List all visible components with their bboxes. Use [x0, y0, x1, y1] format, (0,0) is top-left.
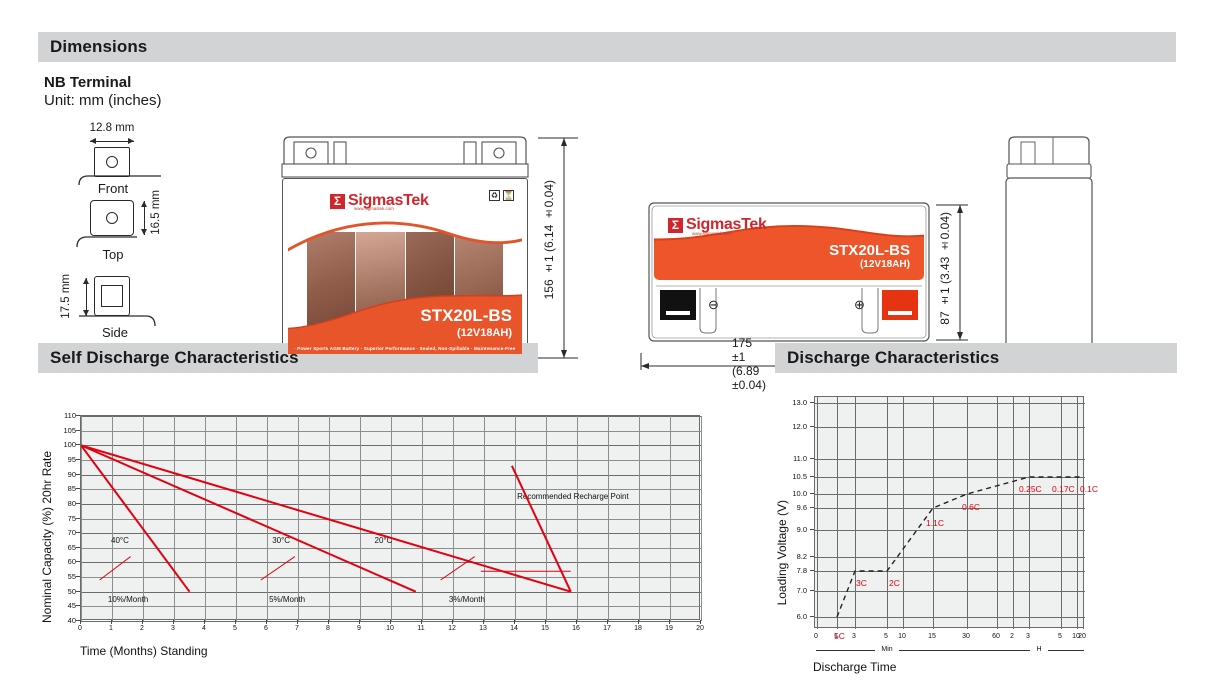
do-not-dispose-icon: ⏳ [503, 190, 514, 201]
self-discharge-plot-area [80, 415, 700, 620]
ytick-label: 100 [52, 440, 76, 449]
terminal-top-view: 16.5 mm Top [60, 194, 220, 272]
xtick-label: 1 [101, 625, 121, 632]
top-caption: Top [76, 247, 150, 262]
ytick-label: 10.5 [783, 472, 807, 481]
ytick-label: 80 [52, 499, 76, 508]
negative-polarity-icon: ⊖ [708, 297, 719, 313]
rate-label-5C: 5C [834, 631, 845, 641]
discharge-curve-20°C [81, 445, 571, 591]
ytick-label: 55 [52, 572, 76, 581]
annotation-leader [261, 557, 295, 580]
self-discharge-chart: Nominal Capacity (%) 20hr Rate 404550556… [38, 405, 718, 675]
ytick-label: 8.2 [783, 552, 807, 561]
positive-terminal [882, 290, 918, 320]
brand-url: www.sigmastek.com [692, 231, 732, 236]
xtick-label: 18 [628, 625, 648, 632]
battery-capacity-side: (12V18AH) [860, 259, 910, 270]
eco-icon-group: ♻ ⏳ [489, 190, 514, 201]
ytick-label: 7.8 [783, 566, 807, 575]
dimensions-header: Dimensions [38, 32, 1176, 62]
gridline-v [701, 416, 702, 621]
depth-dimension: 87 ±1 (3.43 ±0.04) [934, 202, 974, 344]
xtick-label: 15 [922, 633, 942, 640]
ytick-label: 60 [52, 557, 76, 566]
depth-dimension-label: 87 ±1 (3.43 ±0.04) [938, 212, 952, 325]
sigma-icon: Σ [330, 194, 345, 209]
recharge-point-leader [512, 466, 571, 592]
terminal-side-view: 17.5 mm Side [60, 272, 220, 348]
gridline-h [81, 621, 701, 622]
ytick-label: 9.0 [783, 525, 807, 534]
dimensions-body: NB Terminal Unit: mm (inches) 12.8 mm Fr… [38, 74, 1176, 339]
xtick-label: 20 [1072, 633, 1092, 640]
ytick-label: 12.0 [783, 422, 807, 431]
xtick-label: 0 [70, 625, 90, 632]
battery-rear-view [1003, 134, 1095, 362]
ytick-label: 13.0 [783, 398, 807, 407]
front-width-label: 12.8 mm [78, 122, 146, 134]
discharge-section: Discharge Characteristics [775, 343, 1177, 373]
annotation-leader [441, 557, 475, 580]
front-terminal-hole [106, 156, 118, 168]
top-height-arrow [140, 201, 149, 235]
battery-capacity-front: (12V18AH) [457, 327, 512, 339]
xtick-label: 3 [163, 625, 183, 632]
xtick-label: 17 [597, 625, 617, 632]
battery-side-label: Σ SigmasTek www.sigmastek.com STX20L-BS … [654, 208, 924, 280]
discharge-header: Discharge Characteristics [775, 343, 1177, 373]
xtick-label: 16 [566, 625, 586, 632]
top-base-curve [76, 234, 138, 248]
ytick-label: 105 [52, 426, 76, 435]
xtick-label: 3 [844, 633, 864, 640]
xtick-label: 9 [349, 625, 369, 632]
ytick-label: 95 [52, 455, 76, 464]
recycle-icon: ♻ [489, 190, 500, 201]
xtick-label: 3 [1018, 633, 1038, 640]
top-terminal-hole [106, 212, 118, 224]
positive-polarity-icon: ⊕ [854, 297, 865, 313]
ytick-label: 110 [52, 411, 76, 420]
xtick-label: 30 [956, 633, 976, 640]
ytick-label: 85 [52, 484, 76, 493]
ytick-label: 9.6 [783, 503, 807, 512]
battery-model-front: STX20L-BS [420, 306, 512, 326]
ytick-label: 75 [52, 514, 76, 523]
ytick-label: 45 [52, 601, 76, 610]
self-discharge-title: Self Discharge Characteristics [50, 348, 299, 368]
xtick-label: 19 [659, 625, 679, 632]
xtick-label: 10 [892, 633, 912, 640]
battery-tagline: · Power Sports AGM Battery · Superior Pe… [294, 346, 515, 351]
dimensions-title: Dimensions [50, 37, 147, 57]
battery-front-lid [276, 134, 534, 180]
battery-rear-outline [1003, 134, 1095, 362]
xtick-label: 4 [194, 625, 214, 632]
xtick-label: 11 [411, 625, 431, 632]
label-wave-top [288, 211, 522, 269]
self-discharge-curves [81, 416, 701, 621]
battery-model-side: STX20L-BS [829, 242, 910, 259]
xtick-label: 10 [380, 625, 400, 632]
ytick-label: 10.0 [783, 489, 807, 498]
ytick-label: 40 [52, 616, 76, 625]
ytick-label: 6.0 [783, 612, 807, 621]
side-terminal-inner [101, 285, 123, 307]
side-height-label: 17.5 mm [60, 274, 72, 319]
xtick-label: 20 [690, 625, 710, 632]
top-height-label: 16.5 mm [150, 190, 162, 235]
height-dimension-label: 156 ±1 (6.14 ±0.04) [542, 180, 556, 299]
xtick-label: 13 [473, 625, 493, 632]
ytick-label: 90 [52, 470, 76, 479]
front-width-arrow [90, 137, 134, 146]
xtick-label: 5 [225, 625, 245, 632]
xtick-label: 8 [318, 625, 338, 632]
xtick-label: 2 [132, 625, 152, 632]
xtick-label: 6 [256, 625, 276, 632]
battery-front-label: Σ SigmasTek www.sigmastek.com ♻ ⏳ STX20L… [288, 184, 522, 354]
ytick-label: 11.0 [783, 454, 807, 463]
discharge-xlabel: Discharge Time [813, 660, 896, 674]
annotation-leader [100, 557, 131, 580]
discharge-curves [815, 397, 1085, 629]
terminal-front-view: 12.8 mm Front [60, 122, 220, 194]
terminal-views: 12.8 mm Front 16.5 mm Top [60, 122, 220, 348]
cutoff-envelope [837, 477, 1083, 617]
negative-terminal [660, 290, 696, 320]
discharge-chart: Loading Voltage (V) 13.012.011.010.510.0… [775, 388, 1195, 688]
sigma-icon: Σ [668, 218, 683, 233]
xtick-label: 15 [535, 625, 555, 632]
battery-front-view: Σ SigmasTek www.sigmastek.com ♻ ⏳ STX20L… [276, 134, 534, 362]
ytick-label: 7.0 [783, 586, 807, 595]
self-discharge-xlabel: Time (Months) Standing [80, 644, 208, 658]
unit-note: Unit: mm (inches) [44, 92, 1176, 109]
discharge-title: Discharge Characteristics [787, 348, 999, 368]
x-unit-label: H [1030, 646, 1048, 653]
side-height-arrow [82, 278, 91, 316]
battery-side-view: Σ SigmasTek www.sigmastek.com STX20L-BS … [648, 202, 930, 342]
xtick-label: 14 [504, 625, 524, 632]
discharge-curve-40°C [81, 445, 190, 591]
x-unit-label: Min [875, 646, 899, 653]
discharge-curve-30°C [81, 445, 416, 591]
side-caption: Side [78, 325, 152, 340]
ytick-label: 65 [52, 543, 76, 552]
ytick-label: 50 [52, 587, 76, 596]
discharge-plot-area [814, 396, 1084, 628]
height-dimension: 156 ±1 (6.14 ±0.04) [536, 134, 580, 362]
xtick-label: 12 [442, 625, 462, 632]
dimensions-section: Dimensions NB Terminal Unit: mm (inches)… [38, 32, 1176, 339]
brand-url: www.sigmastek.com [354, 206, 394, 211]
xtick-label: 7 [287, 625, 307, 632]
xtick-label: 0 [806, 633, 826, 640]
ytick-label: 70 [52, 528, 76, 537]
nb-terminal-title: NB Terminal [44, 74, 1176, 91]
